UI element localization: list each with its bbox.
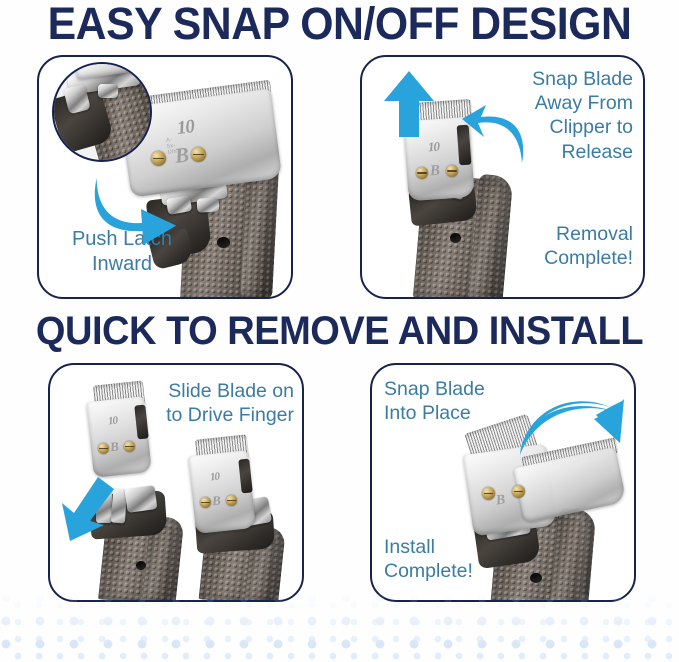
clipper-latch-pin (197, 197, 220, 213)
blade-screw-right (124, 441, 135, 452)
brand-logo-b: B (109, 439, 119, 456)
blade-screw-left (98, 443, 109, 454)
blade-screw-right (226, 495, 237, 506)
step-panel-snap-away: 10 B Snap Blade Away From Clipper to Rel… (360, 55, 645, 299)
step-panel-slide-blade: 10 B 10 B Slide Blade on to Drive Finger (48, 363, 304, 602)
blade-size-marking: 10 (427, 139, 439, 156)
clipper-vent-hole (217, 237, 230, 248)
blade-rear-clip (238, 459, 252, 494)
blade-screw-right (191, 147, 206, 162)
caption-install-complete: Install Complete! (384, 535, 524, 583)
clipper-vent-hole (450, 233, 461, 243)
brand-logo-b: B (429, 163, 440, 181)
curved-arrow-right-down-icon (87, 169, 197, 249)
arrow-down-left-icon (56, 475, 118, 545)
step-panel-snap-into-place: B Snap Blade Into Place Install Complete… (370, 363, 636, 602)
brand-logo-b: B (211, 493, 221, 510)
clipper-vent-hole (530, 573, 542, 583)
curved-arrow-up-left-icon (460, 105, 526, 169)
blade-screw-right (446, 165, 458, 177)
clipper-vent-hole (136, 561, 146, 570)
clipper-drive-bracket (124, 485, 157, 513)
blade-screw-left (200, 497, 211, 508)
blade-screw-left (151, 151, 166, 166)
inset-latch-pin (98, 84, 118, 98)
curved-arrow-right-down-icon (518, 393, 624, 463)
caption-snap-blade-into-place: Snap Blade Into Place (384, 377, 524, 425)
arrow-up-icon (380, 69, 438, 139)
blade-size-marking: 10 (107, 415, 117, 428)
latch-detail-closeup (52, 62, 152, 162)
step-panel-push-latch: 10 A-5x-Ultra B Push Latch Inward (37, 55, 293, 299)
page-title-primary: EASY SNAP ON/OFF DESIGN (17, 1, 662, 46)
blade-screw-left (482, 487, 495, 500)
infographic-root: EASY SNAP ON/OFF DESIGN 10 A-5x-Ultra B (0, 0, 679, 662)
clipper-body-side (550, 508, 597, 602)
blade-screw-right (512, 485, 525, 498)
caption-slide-blade-on-to-drive-finger: Slide Blade on to Drive Finger (144, 379, 294, 427)
blade-size-marking: 10 (209, 471, 219, 484)
page-title-secondary: QUICK TO REMOVE AND INSTALL (17, 311, 662, 351)
blade-screw-left (416, 167, 428, 179)
caption-removal-complete: Removal Complete! (503, 222, 633, 270)
